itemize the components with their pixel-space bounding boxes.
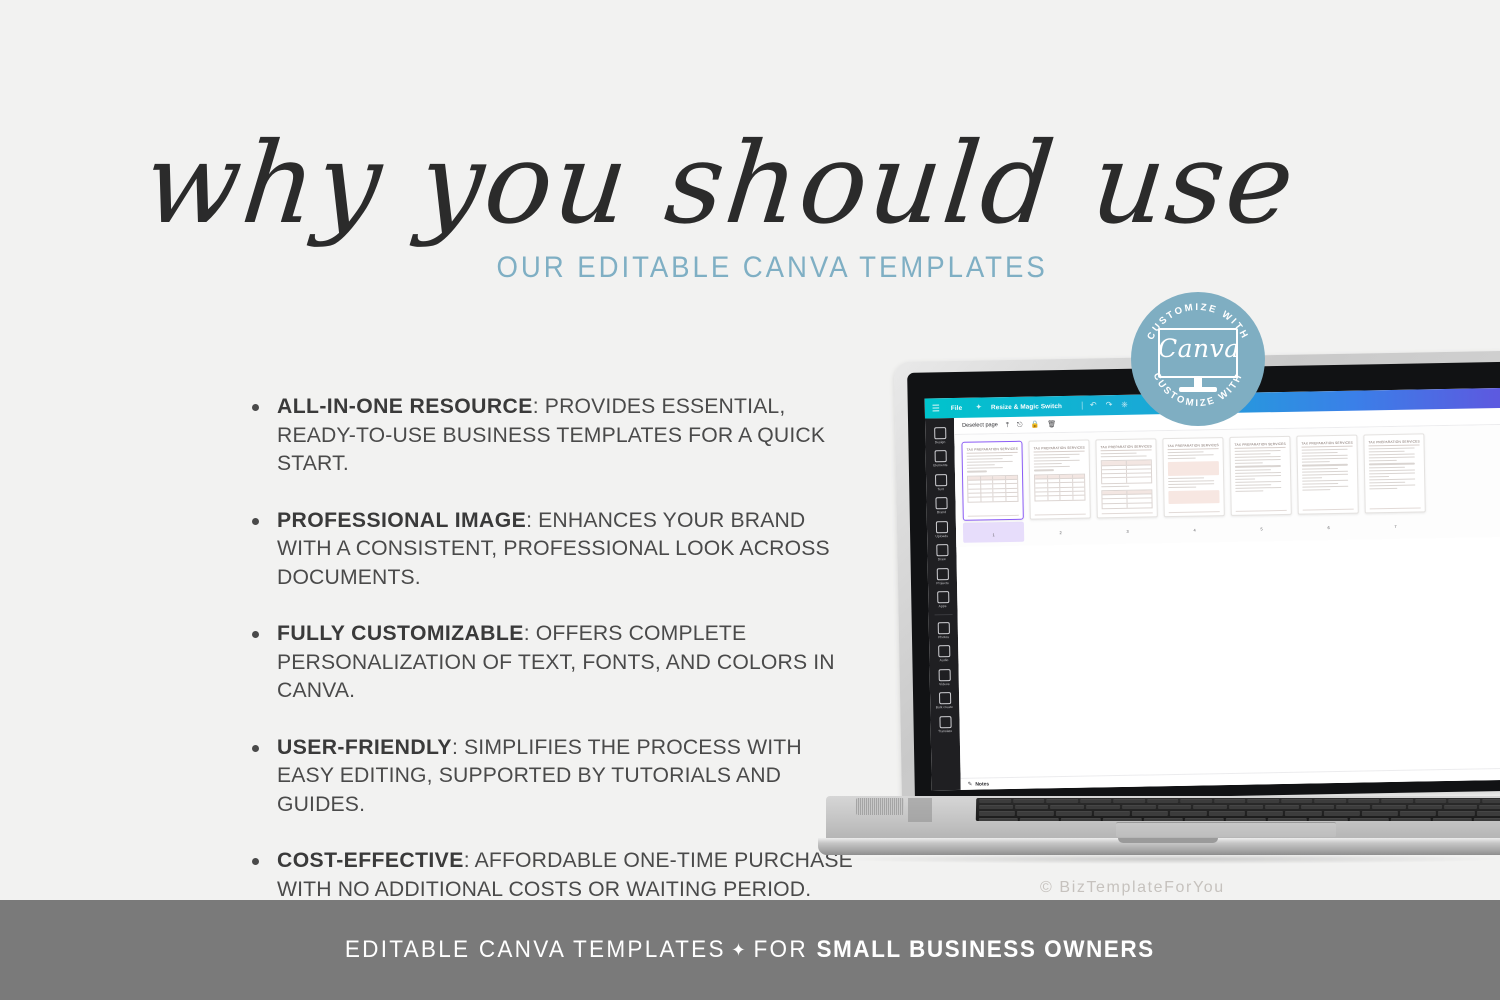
thumb-table-cell <box>1102 466 1127 470</box>
footer-text: EDITABLE CANVA TEMPLATES✦FOR SMALL BUSIN… <box>345 936 1155 964</box>
sparkle-icon: ✦ <box>975 403 982 411</box>
deselect-page-button[interactable]: Deselect page <box>962 422 998 429</box>
thumb-text-line <box>1369 472 1415 474</box>
page-number-wrap: 6 <box>1298 516 1359 535</box>
keyboard-key <box>1415 799 1447 803</box>
keyboard-key <box>1185 818 1224 821</box>
thumb-table-cell <box>993 497 1006 501</box>
thumb-text-line <box>1369 476 1389 477</box>
thumb-table-cell <box>1060 492 1073 495</box>
keyboard-key <box>1477 811 1500 815</box>
thumb-text-line <box>1235 484 1271 486</box>
thumb-text-line <box>1369 454 1415 456</box>
page-title-script: why you should use <box>0 128 1500 240</box>
page-number-wrap: 2 <box>1030 520 1091 539</box>
thumb-document-title: TAX PREPARATION SERVICES <box>1034 446 1085 453</box>
keyboard-key <box>1408 805 1442 809</box>
thumb-table-cell <box>1035 488 1048 491</box>
thumb-text-line <box>1101 456 1147 458</box>
page-thumbnail[interactable]: TAX PREPARATION SERVICES6 <box>1296 435 1359 535</box>
thumb-text-line <box>1235 491 1263 493</box>
benefit-text: ALL-IN-ONE RESOURCE: PROVIDES ESSENTIAL,… <box>277 392 855 478</box>
bullet-dot-icon <box>252 858 259 865</box>
sidebar-item-text[interactable]: Text <box>926 470 955 494</box>
thumb-footer-rule <box>968 515 1019 517</box>
thumb-text-line <box>1034 470 1054 471</box>
thumb-footer-rule <box>1236 510 1287 512</box>
page-thumbnail-canvas[interactable]: TAX PREPARATION SERVICES <box>1296 435 1358 515</box>
sidebar-item-apps[interactable]: Apps <box>928 587 957 611</box>
trash-icon[interactable]: 🗑 <box>1047 421 1056 428</box>
thumb-table-cell <box>1060 496 1073 500</box>
thumb-table-cell <box>1102 470 1127 474</box>
footer-bar: EDITABLE CANVA TEMPLATES✦FOR SMALL BUSIN… <box>0 900 1500 1000</box>
notes-label: Notes <box>975 781 989 787</box>
page-thumbnails-strip[interactable]: TAX PREPARATION SERVICES1TAX PREPARATION… <box>954 423 1500 547</box>
benefit-text: USER-FRIENDLY: SIMPLIFIES THE PROCESS WI… <box>277 733 855 819</box>
benefit-lead: USER-FRIENDLY <box>277 735 452 759</box>
thumb-table-cell <box>1006 497 1018 501</box>
thumb-table-cell <box>968 485 981 488</box>
thumb-table-cell <box>968 489 981 492</box>
keyboard-key <box>1229 805 1263 809</box>
thumb-table-cell <box>1073 479 1085 482</box>
thumb-table-cell <box>1103 503 1128 508</box>
thumb-footer-rule <box>1102 512 1153 514</box>
laptop-base <box>818 796 1500 858</box>
benefit-item: PROFESSIONAL IMAGE: ENHANCES YOUR BRAND … <box>252 506 864 592</box>
page-number: 2 <box>1059 530 1061 535</box>
thumb-text-line <box>1369 482 1405 484</box>
thumb-text-line <box>1168 451 1204 453</box>
thumb-table-cell <box>1006 493 1018 496</box>
thumb-text-line <box>1369 485 1415 487</box>
video-icon <box>938 669 950 681</box>
keyboard-key <box>1247 811 1283 815</box>
thumb-table-cell <box>1060 487 1073 490</box>
thumb-table-cell <box>1035 475 1048 479</box>
sidebar-item-label: Audio <box>939 658 948 662</box>
thumb-table-cell <box>993 493 1006 496</box>
music-icon <box>938 645 950 657</box>
lock-icon[interactable]: 🔒 <box>1030 421 1039 428</box>
thumb-text-line <box>967 467 1003 469</box>
keyboard-key <box>1362 811 1398 815</box>
sidebar-item-uploads[interactable]: Uploads <box>927 517 956 541</box>
thumb-text-line <box>1235 453 1271 455</box>
keyboard-key <box>1348 799 1380 803</box>
page-number: 1 <box>992 532 994 537</box>
page-number: 7 <box>1394 524 1396 529</box>
page-thumbnail-canvas[interactable]: TAX PREPARATION SERVICES <box>961 441 1023 521</box>
thumb-table-cell <box>1060 479 1073 482</box>
keyboard-key <box>1158 805 1192 809</box>
thumb-text-line <box>1034 454 1080 456</box>
thumb-text-line <box>1302 474 1348 476</box>
keyboard-key <box>1444 805 1478 809</box>
sidebar-item-bulk-create[interactable]: Bulk create <box>930 688 959 712</box>
thumb-text-line <box>1369 448 1415 450</box>
note-pencil-icon: ✎ <box>968 781 973 787</box>
page-thumbnail-canvas[interactable]: TAX PREPARATION SERVICES <box>1363 433 1425 513</box>
thumb-table-cell <box>981 497 994 501</box>
thumb-table-cell <box>993 484 1006 487</box>
canva-body: DesignElementsTextBrandUploadsDrawProjec… <box>925 406 1500 791</box>
thumb-table-row <box>1035 496 1084 501</box>
page-thumbnail-canvas[interactable]: TAX PREPARATION SERVICES <box>1095 438 1157 518</box>
thumb-text-line <box>1302 452 1338 454</box>
keyboard-key <box>1479 805 1500 809</box>
thumb-text-line <box>1235 472 1281 474</box>
thumb-text-line <box>1168 480 1214 482</box>
keyboard-key <box>1209 811 1245 815</box>
keyboard-key <box>1180 799 1212 803</box>
thumb-table-cell <box>1060 474 1073 478</box>
thumb-table <box>1101 489 1152 509</box>
thumb-table-cell <box>1048 496 1061 500</box>
keyboard-key <box>1350 818 1389 821</box>
benefit-item: ALL-IN-ONE RESOURCE: PROVIDES ESSENTIAL,… <box>252 392 864 478</box>
thumb-table-cell <box>1102 499 1127 503</box>
keyboard-key <box>1438 811 1474 815</box>
add-page-icon[interactable]: ⤒ <box>1006 421 1009 428</box>
thumb-text-line <box>1369 457 1415 459</box>
keyboard-key <box>1214 799 1246 803</box>
keyboard-key <box>1323 811 1359 815</box>
thumb-table-cell <box>1102 495 1127 499</box>
keyboard-key <box>1050 805 1084 809</box>
thumb-text-line <box>1302 464 1348 466</box>
bullet-dot-icon <box>252 404 259 411</box>
laptop-mockup: ☰ File ✦ Resize & Magic Switch ↶ ↷ ⎈ Des… <box>818 362 1500 872</box>
keyboard-key <box>1448 799 1480 803</box>
keyboard-key <box>1372 805 1406 809</box>
sidebar-item-label: Projects <box>936 581 948 585</box>
sidebar-item-draw[interactable]: Draw <box>927 540 956 564</box>
benefit-lead: ALL-IN-ONE RESOURCE <box>277 394 533 418</box>
laptop-base-notch <box>1118 838 1218 843</box>
keyboard-key <box>1094 811 1130 815</box>
thumb-table-cell <box>981 489 994 492</box>
keyboard-key <box>1482 799 1500 803</box>
thumb-text-line <box>1369 466 1405 468</box>
bulk-icon <box>938 692 950 704</box>
thumb-text-line <box>1302 468 1338 470</box>
page-thumbnail[interactable]: TAX PREPARATION SERVICES2 <box>1028 440 1091 540</box>
keyboard-key <box>1226 818 1265 821</box>
thumb-text-line <box>1235 481 1281 483</box>
page-thumbnail-canvas[interactable]: TAX PREPARATION SERVICES <box>1028 440 1090 520</box>
sidebar-item-elements[interactable]: Elements <box>925 446 954 470</box>
thumb-text-line <box>1302 470 1348 472</box>
bullet-dot-icon <box>252 518 259 525</box>
page-subtitle: OUR EDITABLE CANVA TEMPLATES <box>60 251 1440 285</box>
customize-with-canva-badge: CUSTOMIZE WITH CUSTOMIZE WITH Canva <box>1131 292 1265 426</box>
sidebar-item-label: Text <box>938 487 944 491</box>
grid-icon <box>937 591 949 603</box>
thumb-text-line <box>1235 475 1281 477</box>
thumb-table-cell <box>1127 499 1151 503</box>
page-thumbnail[interactable]: TAX PREPARATION SERVICES7 <box>1363 433 1426 533</box>
duplicate-icon[interactable]: ⎋ <box>1017 421 1023 428</box>
thumb-text-line <box>1101 485 1129 487</box>
sidebar-item-label: Bulk create <box>936 705 953 709</box>
thumb-text-line <box>1168 458 1196 460</box>
thumb-footer-rule <box>1303 509 1354 511</box>
thumb-table <box>1101 460 1152 484</box>
thumb-table-cell <box>1102 478 1127 483</box>
sidebar-item-label: Videos <box>939 682 949 686</box>
thumb-table-cell <box>1073 474 1085 478</box>
bullet-dot-icon <box>252 631 259 638</box>
sidebar-item-label: Uploads <box>935 534 948 538</box>
resize-magic-switch-button[interactable]: Resize & Magic Switch <box>991 403 1062 411</box>
sidebar-item-label: Translate <box>938 729 952 733</box>
thumb-text-line <box>1235 487 1281 489</box>
thumb-footer-rule <box>1035 514 1086 516</box>
keyboard-key <box>1013 799 1045 803</box>
benefit-lead: FULLY CUSTOMIZABLE <box>277 621 524 645</box>
laptop-shadow <box>838 854 1498 864</box>
thumb-text-line <box>967 465 995 467</box>
laptop-trackpad <box>1116 822 1336 837</box>
thumb-table-cell <box>1127 478 1151 483</box>
sync-icon[interactable]: ⎈ <box>1121 401 1128 409</box>
thumb-table-cell <box>981 480 994 483</box>
page-number-wrap: 7 <box>1365 514 1426 533</box>
keyboard-key <box>1170 811 1206 815</box>
thumb-text-line <box>1302 486 1348 488</box>
thumb-table-cell <box>1073 487 1085 490</box>
sidebar-item-photos[interactable]: Photos <box>929 618 958 642</box>
thumb-text-line <box>1168 454 1214 456</box>
thumb-table-cell <box>1006 480 1018 483</box>
thumb-table-cell <box>1035 479 1048 482</box>
thumb-text-line <box>1235 469 1271 471</box>
page-number-wrap: 1 <box>963 522 1024 543</box>
keyboard-key <box>1147 799 1179 803</box>
sidebar-divider <box>934 614 952 615</box>
thumb-table-cell <box>1048 475 1061 479</box>
thumb-table-cell <box>1102 474 1127 478</box>
thumb-text-line <box>1302 461 1330 463</box>
thumb-table-cell <box>1127 490 1151 494</box>
thumb-document-title: TAX PREPARATION SERVICES <box>1167 443 1218 450</box>
laptop-base-top <box>826 796 1500 840</box>
benefit-item: COST-EFFECTIVE: AFFORDABLE ONE-TIME PURC… <box>252 846 864 903</box>
thumb-document-title: TAX PREPARATION SERVICES <box>1100 444 1151 451</box>
sidebar-item-audio[interactable]: Audio <box>929 641 958 665</box>
thumb-text-line <box>967 458 1003 460</box>
page-thumbnail-canvas[interactable]: TAX PREPARATION SERVICES <box>1229 436 1291 516</box>
page-number: 5 <box>1260 526 1262 531</box>
thumb-table-cell <box>1073 496 1085 500</box>
thumb-text-line <box>1034 463 1062 465</box>
file-menu-button[interactable]: File <box>951 404 963 411</box>
laptop-keyboard <box>976 798 1500 821</box>
benefit-lead: PROFESSIONAL IMAGE <box>277 508 526 532</box>
keyboard-key <box>1432 818 1471 821</box>
keyboard-key <box>1285 811 1321 815</box>
keyboard-key <box>1055 811 1091 815</box>
keyboard-key <box>1247 799 1279 803</box>
page-number-wrap: 5 <box>1231 517 1292 536</box>
diamond-icon: ✦ <box>732 940 748 960</box>
thumb-text-line <box>1168 487 1196 489</box>
page-thumbnail[interactable]: TAX PREPARATION SERVICES3 <box>1095 438 1158 538</box>
keyboard-key <box>1400 811 1436 815</box>
thumb-text-line <box>1034 460 1080 462</box>
keyboard-key <box>1265 805 1299 809</box>
thumb-highlight-block <box>1168 490 1219 504</box>
keyboard-key <box>979 799 1011 803</box>
badge-brand-name: Canva <box>1158 334 1238 363</box>
thumb-table-cell <box>1035 484 1048 487</box>
thumb-table-cell <box>1127 469 1151 473</box>
sidebar-item-design[interactable]: Design <box>925 423 954 447</box>
keyboard-key <box>1132 811 1168 815</box>
text-icon <box>934 474 946 486</box>
sidebar-item-brand[interactable]: Brand <box>926 493 955 517</box>
keyboard-row <box>976 817 1500 821</box>
thumb-text-line <box>1302 455 1348 457</box>
page-number: 3 <box>1126 529 1128 534</box>
benefit-item: FULLY CUSTOMIZABLE: OFFERS COMPLETE PERS… <box>252 619 864 705</box>
keyboard-key <box>979 818 1018 821</box>
thumb-table-cell <box>1127 465 1151 469</box>
sidebar-item-videos[interactable]: Videos <box>930 665 959 689</box>
thumb-footer-rule <box>1370 507 1421 509</box>
thumb-table-cell <box>1060 483 1073 486</box>
thumb-table-cell <box>968 481 981 484</box>
page-thumbnail-canvas[interactable]: TAX PREPARATION SERVICES <box>1162 437 1224 517</box>
keyboard-key <box>1309 818 1348 821</box>
thumb-table <box>1034 473 1085 501</box>
thumb-text-line <box>1302 449 1348 451</box>
thumb-table-cell <box>993 476 1006 480</box>
thumb-table-cell <box>1128 503 1152 508</box>
thumb-text-line <box>1302 458 1348 460</box>
page-thumbnail[interactable]: TAX PREPARATION SERVICES1 <box>961 441 1024 543</box>
thumb-text-line <box>1302 477 1322 478</box>
page-number-wrap: 4 <box>1164 518 1225 537</box>
keyboard-key <box>1061 818 1100 821</box>
bullet-dot-icon <box>252 745 259 752</box>
folder-icon <box>936 568 948 580</box>
page-number: 4 <box>1193 528 1195 533</box>
thumb-text-line <box>1235 465 1281 467</box>
thumb-text-line <box>967 471 987 472</box>
page-number: 6 <box>1327 525 1329 530</box>
thumb-table-cell <box>981 493 994 496</box>
watermark-credit: © BizTemplateForYou <box>1040 879 1225 897</box>
footer-strong: SMALL BUSINESS OWNERS <box>817 936 1155 963</box>
keyboard-key <box>1301 805 1335 809</box>
thumb-table-cell <box>1048 479 1061 482</box>
monitor-base-icon <box>1179 387 1217 392</box>
sidebar-item-label: Design <box>935 440 946 444</box>
page-thumbnail[interactable]: TAX PREPARATION SERVICES4 <box>1162 437 1225 537</box>
thumb-text-line <box>1168 477 1204 479</box>
keyboard-key <box>1267 818 1306 821</box>
benefit-item: USER-FRIENDLY: SIMPLIFIES THE PROCESS WI… <box>252 733 864 819</box>
keyboard-key <box>1102 818 1141 821</box>
thumb-text-line <box>1302 480 1348 482</box>
thumb-text-line <box>1369 469 1415 471</box>
thumb-table-cell <box>1127 461 1151 465</box>
thumb-table-cell <box>1102 490 1127 494</box>
thumb-document-title: TAX PREPARATION SERVICES <box>1234 442 1285 449</box>
thumb-table-cell <box>968 476 981 480</box>
thumb-footer-rule <box>1169 511 1220 513</box>
thumb-table-cell <box>1073 483 1085 486</box>
thumb-table-cell <box>1102 461 1127 465</box>
thumb-text-line <box>1369 463 1415 465</box>
sidebar-item-translate[interactable]: Translate <box>930 712 959 736</box>
thumb-text-line <box>1369 478 1415 480</box>
thumb-table-cell <box>993 480 1006 483</box>
hamburger-icon[interactable]: ☰ <box>932 404 940 413</box>
thumb-table-cell <box>1048 483 1061 486</box>
canva-main-area: Deselect page ⤒ ⎋ 🔒 🗑 TAX PREPARATION SE… <box>954 406 1500 790</box>
keyboard-key <box>1193 805 1227 809</box>
thumb-text-line <box>1235 459 1281 461</box>
benefit-text: FULLY CUSTOMIZABLE: OFFERS COMPLETE PERS… <box>277 619 855 705</box>
thumb-text-line <box>1101 453 1137 455</box>
keyboard-key <box>1144 818 1183 821</box>
thumb-text-line <box>1034 457 1070 459</box>
keyboard-key <box>1046 799 1078 803</box>
sidebar-item-label: Photos <box>938 635 949 639</box>
thumb-document-title: TAX PREPARATION SERVICES <box>1301 441 1352 448</box>
thumb-text-line <box>1369 488 1397 490</box>
photo-icon <box>937 622 949 634</box>
footer-prefix: EDITABLE CANVA TEMPLATES <box>345 936 726 963</box>
thumb-text-line <box>967 455 1013 457</box>
shapes-icon <box>934 450 946 462</box>
thumb-table-cell <box>968 497 981 501</box>
benefit-lead: COST-EFFECTIVE <box>277 848 464 872</box>
thumb-table-row <box>1102 478 1151 483</box>
thumb-table-cell <box>1048 492 1061 495</box>
thumb-text-line <box>1235 456 1281 458</box>
page-number-wrap: 3 <box>1097 519 1158 538</box>
benefits-list: ALL-IN-ONE RESOURCE: PROVIDES ESSENTIAL,… <box>252 392 864 931</box>
sidebar-item-label: Elements <box>933 463 947 467</box>
page-thumbnail[interactable]: TAX PREPARATION SERVICES5 <box>1229 436 1292 536</box>
keyboard-key <box>1314 799 1346 803</box>
footer-middle: FOR <box>754 936 808 963</box>
thumb-highlight-block <box>1168 461 1219 476</box>
thumb-table-cell <box>981 476 994 480</box>
thumb-text-line <box>1302 489 1330 491</box>
keyboard-key <box>979 805 1013 809</box>
thumb-table-cell <box>993 489 1006 492</box>
thumb-table-cell <box>1035 492 1048 495</box>
undo-icon[interactable]: ↶ <box>1090 401 1097 409</box>
canva-application-window: ☰ File ✦ Resize & Magic Switch ↶ ↷ ⎈ Des… <box>925 386 1500 791</box>
sidebar-item-label: Apps <box>939 604 947 608</box>
thumb-table-cell <box>1006 488 1018 491</box>
thumb-text-line <box>1235 478 1255 479</box>
thumb-table-row <box>1103 503 1152 508</box>
keyboard-key <box>1122 805 1156 809</box>
sidebar-item-projects[interactable]: Projects <box>928 564 957 588</box>
speaker-grille-right <box>908 798 932 822</box>
redo-icon[interactable]: ↷ <box>1106 401 1113 409</box>
benefit-text: COST-EFFECTIVE: AFFORDABLE ONE-TIME PURC… <box>277 846 855 903</box>
keyboard-key <box>1080 799 1112 803</box>
